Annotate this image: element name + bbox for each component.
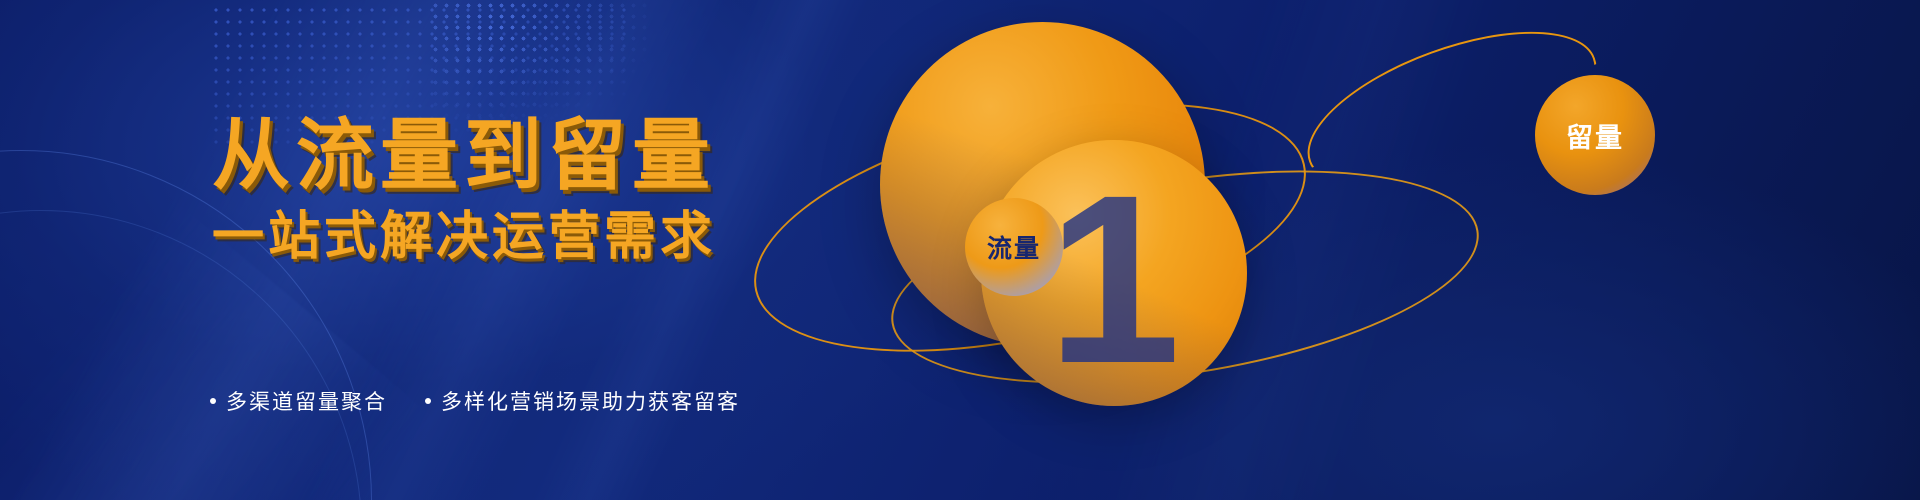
bullet-dot-icon	[210, 398, 216, 404]
bullet-label: 多样化营销场景助力获客留客	[441, 386, 740, 416]
banner-bullet-list: 多渠道留量聚合 多样化营销场景助力获客留客	[210, 386, 740, 416]
list-item: 多样化营销场景助力获客留客	[425, 386, 740, 416]
numeral-label: 1	[1047, 159, 1180, 399]
banner-illustration: 1 流量 留量	[740, 0, 1920, 500]
banner-copy-block: 从流量到留量 一站式解决运营需求 多渠道留量聚合 多样化营销场景助力获客留客	[0, 0, 760, 500]
list-item: 多渠道留量聚合	[210, 386, 387, 416]
bullet-label: 多渠道留量聚合	[226, 386, 387, 416]
banner-subheadline: 一站式解决运营需求	[212, 208, 716, 266]
badge-sphere-retention-label: 留量	[1566, 116, 1624, 155]
promo-banner: 从流量到留量 一站式解决运营需求 多渠道留量聚合 多样化营销场景助力获客留客 1…	[0, 0, 1920, 500]
bullet-dot-icon	[425, 398, 431, 404]
banner-headline: 从流量到留量	[212, 113, 716, 197]
badge-sphere-traffic-label: 流量	[987, 229, 1041, 265]
badge-sphere-retention: 留量	[1535, 75, 1655, 195]
